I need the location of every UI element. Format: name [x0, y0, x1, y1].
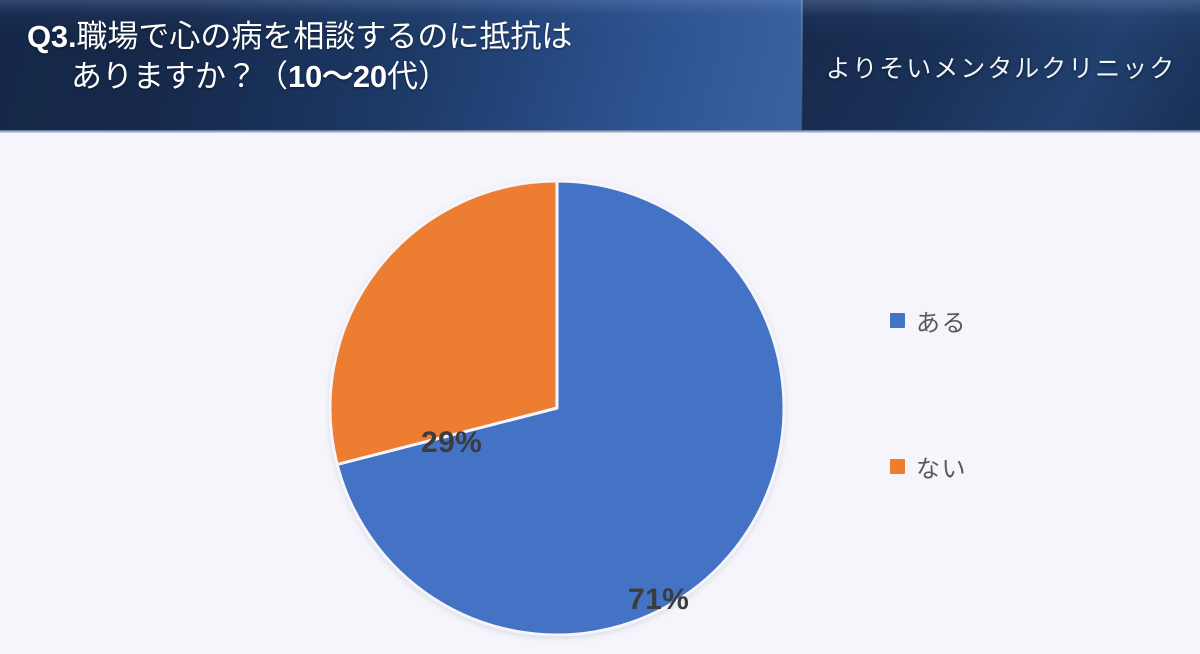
- pie-chart-svg: [329, 180, 785, 636]
- question-number: Q3.: [27, 19, 76, 54]
- legend-label-aru: ある: [916, 303, 967, 338]
- age-range-text: 10～20: [288, 59, 387, 94]
- question-text-part-1: 職場で心の病を相談するのに抵抗は: [76, 19, 572, 54]
- page-title: Q3.職場で心の病を相談するのに抵抗は ありますか？（10～20代）: [27, 17, 787, 98]
- legend-square-swatch-nai: [890, 459, 905, 474]
- question-text-part-2: ありますか？（: [71, 59, 288, 94]
- pie-chart: [329, 180, 785, 636]
- clinic-name-label: よりそいメンタルクリニック: [802, 0, 1200, 133]
- legend-item-nai[interactable]: ない: [890, 449, 967, 484]
- pie-slice-group: [330, 181, 784, 635]
- legend-square-swatch-aru: [890, 313, 905, 328]
- slide-header: Q3.職場で心の病を相談するのに抵抗は ありますか？（10～20代） よりそいメ…: [0, 0, 1200, 133]
- chart-area: 71% 29% ある ない: [0, 133, 1200, 654]
- slide-canvas: Q3.職場で心の病を相談するのに抵抗は ありますか？（10～20代） よりそいメ…: [0, 0, 1200, 654]
- pie-slice-value-ある: 71%: [628, 583, 689, 617]
- page-title-line-2: ありますか？（10～20代）: [27, 57, 787, 97]
- legend-label-nai: ない: [916, 449, 967, 484]
- page-title-line-1: Q3.職場で心の病を相談するのに抵抗は: [27, 17, 787, 57]
- pie-slice-value-ない: 29%: [421, 426, 482, 460]
- question-text-part-3: 代）: [387, 59, 449, 94]
- legend-item-aru[interactable]: ある: [890, 303, 967, 338]
